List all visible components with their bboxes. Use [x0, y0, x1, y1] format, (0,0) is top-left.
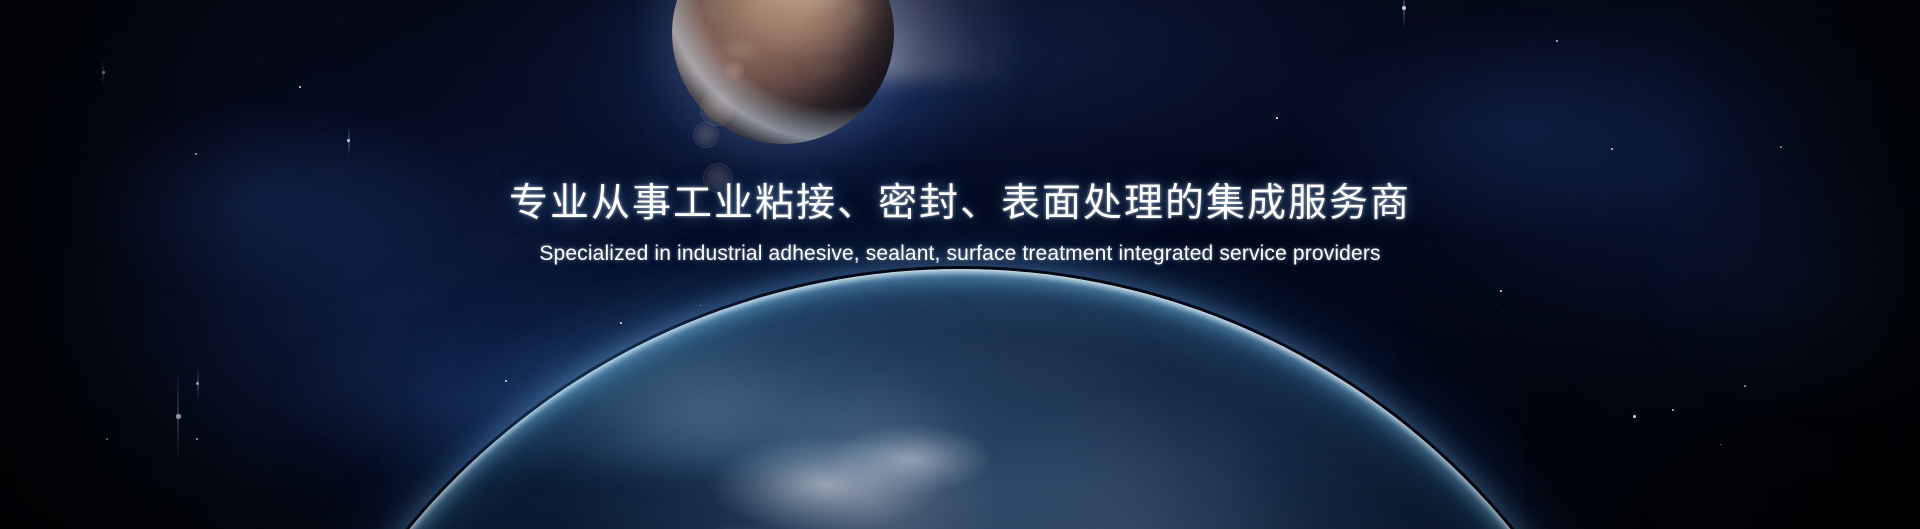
headline-english: Specialized in industrial adhesive, seal… [0, 240, 1920, 267]
hero-banner: 专业从事工业粘接、密封、表面处理的集成服务商 Specialized in in… [0, 0, 1920, 529]
hero-headline-block: 专业从事工业粘接、密封、表面处理的集成服务商 Specialized in in… [0, 178, 1920, 268]
headline-chinese: 专业从事工业粘接、密封、表面处理的集成服务商 [0, 178, 1920, 230]
